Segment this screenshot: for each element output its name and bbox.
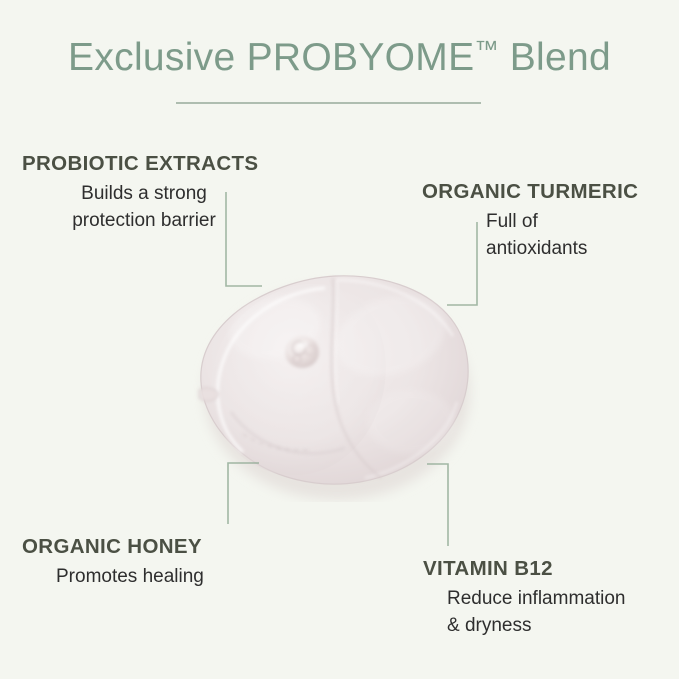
callout-honey-body-line1: Promotes healing bbox=[56, 564, 204, 591]
callout-organic-turmeric: ORGANIC TURMERIC Full of antioxidants bbox=[422, 180, 638, 263]
trademark-icon: ™ bbox=[474, 36, 498, 63]
callout-probiotic-extracts: PROBIOTIC EXTRACTS Builds a strong prote… bbox=[22, 152, 258, 235]
title-divider bbox=[176, 102, 481, 104]
callout-b12-title: VITAMIN B12 bbox=[423, 557, 625, 581]
callout-organic-honey: ORGANIC HONEY Promotes healing bbox=[22, 535, 204, 591]
callout-vitamin-b12: VITAMIN B12 Reduce inflammation & drynes… bbox=[423, 557, 625, 640]
callout-probiotic-body-line2: protection barrier bbox=[40, 208, 248, 235]
page-title: Exclusive PROBYOME™ Blend bbox=[0, 36, 679, 80]
callout-b12-body-line2: & dryness bbox=[447, 613, 625, 640]
page-title-prefix: Exclusive PROBYOME bbox=[68, 36, 474, 79]
callout-probiotic-body-line1: Builds a strong bbox=[40, 181, 248, 208]
callout-turmeric-body-line1: Full of bbox=[486, 209, 638, 236]
page-title-suffix: Blend bbox=[499, 36, 611, 79]
callout-turmeric-title: ORGANIC TURMERIC bbox=[422, 180, 638, 204]
callout-b12-body-line1: Reduce inflammation bbox=[447, 586, 625, 613]
callout-turmeric-body: Full of antioxidants bbox=[486, 209, 638, 263]
callout-honey-body: Promotes healing bbox=[56, 564, 204, 591]
callout-honey-title: ORGANIC HONEY bbox=[22, 535, 204, 559]
callout-turmeric-body-line2: antioxidants bbox=[486, 236, 638, 263]
callout-b12-body: Reduce inflammation & dryness bbox=[447, 586, 625, 640]
callout-probiotic-title: PROBIOTIC EXTRACTS bbox=[22, 152, 258, 176]
product-image bbox=[185, 262, 480, 502]
callout-probiotic-body: Builds a strong protection barrier bbox=[40, 181, 248, 235]
infographic-page: Exclusive PROBYOME™ Blend bbox=[0, 0, 679, 679]
